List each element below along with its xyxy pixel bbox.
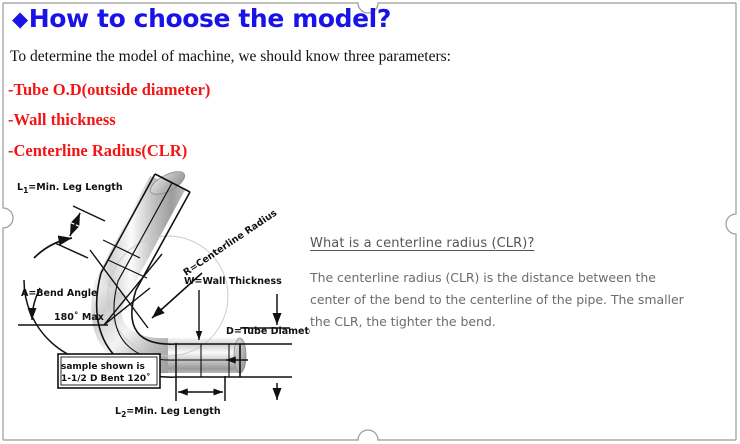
label-l2-leg-length: L2=Min. Leg Length	[115, 406, 221, 418]
label-180-max: 180˚ Max	[54, 312, 104, 323]
parameter-item-centerline-radius: -Centerline Radius(CLR)	[8, 141, 187, 161]
sample-note-line-2: 1-1/2 D Bent 120˚	[61, 373, 151, 384]
label-bend-angle: A=Bend Angle	[21, 288, 97, 299]
diamond-bullet-icon: ◆	[12, 7, 28, 31]
clr-description-paragraph: The centerline radius (CLR) is the dista…	[310, 267, 688, 333]
clr-explanation-block: What is a centerline radius (CLR)? The c…	[310, 236, 702, 333]
page-title-text: How to choose the model?	[29, 4, 391, 33]
clr-question-heading: What is a centerline radius (CLR)?	[310, 236, 702, 251]
label-tube-diameter: D=Tube Diameter	[226, 326, 310, 337]
intro-sentence: To determine the model of machine, we sh…	[10, 48, 451, 66]
parameter-item-wall-thickness: -Wall thickness	[8, 110, 116, 130]
slide-page: ◆How to choose the model? To determine t…	[0, 0, 740, 444]
page-title: ◆How to choose the model?	[12, 4, 391, 33]
l1-dimension	[55, 206, 105, 258]
label-wall-thickness: W=Wall Thickness	[184, 276, 282, 287]
parameter-item-tube-od: -Tube O.D(outside diameter)	[8, 80, 210, 100]
sample-note-line-1: sample shown is	[61, 362, 145, 372]
tube-bend-diagram: L1=Min. Leg Length A=Bend Angle 180˚ Max…	[0, 168, 310, 418]
label-l1-leg-length: L1=Min. Leg Length	[17, 182, 123, 195]
